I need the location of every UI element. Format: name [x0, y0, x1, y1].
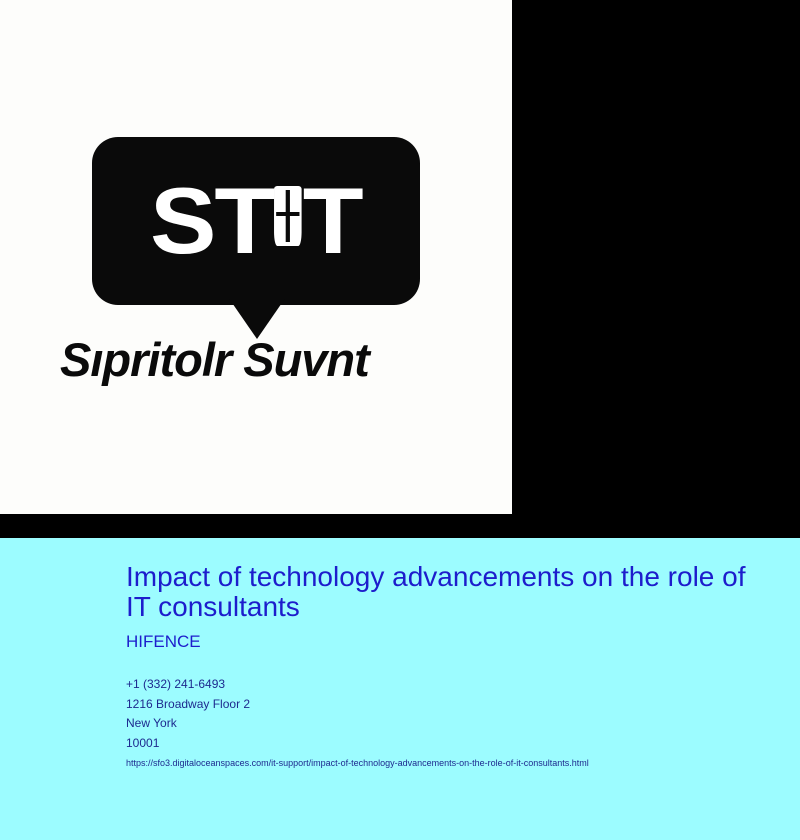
- logo-wordmark: ST T: [92, 137, 420, 305]
- logo-tagline: Sıpritolr Suvnt: [60, 336, 480, 383]
- contact-list: +1 (332) 241-6493 1216 Broadway Floor 2 …: [126, 675, 774, 753]
- logo-letters-right: T: [303, 174, 362, 268]
- page-title: Impact of technology advancements on the…: [126, 562, 766, 621]
- logo-panel: ST T Sıpritolr Suvnt: [0, 0, 512, 514]
- brand-name: HIFENCE: [126, 633, 774, 650]
- link-preview-card: ST T Sıpritolr Suvnt Impact of technolog…: [0, 0, 800, 840]
- info-card-content: Impact of technology advancements on the…: [126, 562, 774, 770]
- dagger-glyph-icon: [274, 186, 302, 246]
- contact-street: 1216 Broadway Floor 2: [126, 695, 774, 714]
- contact-zip: 10001: [126, 734, 774, 753]
- contact-city: New York: [126, 714, 774, 733]
- contact-phone: +1 (332) 241-6493: [126, 675, 774, 694]
- source-url-link[interactable]: https://sfo3.digitaloceanspaces.com/it-s…: [126, 758, 774, 770]
- speech-bubble-logo-icon: ST T: [92, 137, 420, 337]
- info-card: Impact of technology advancements on the…: [0, 538, 800, 840]
- logo-letters-left: ST: [150, 174, 273, 268]
